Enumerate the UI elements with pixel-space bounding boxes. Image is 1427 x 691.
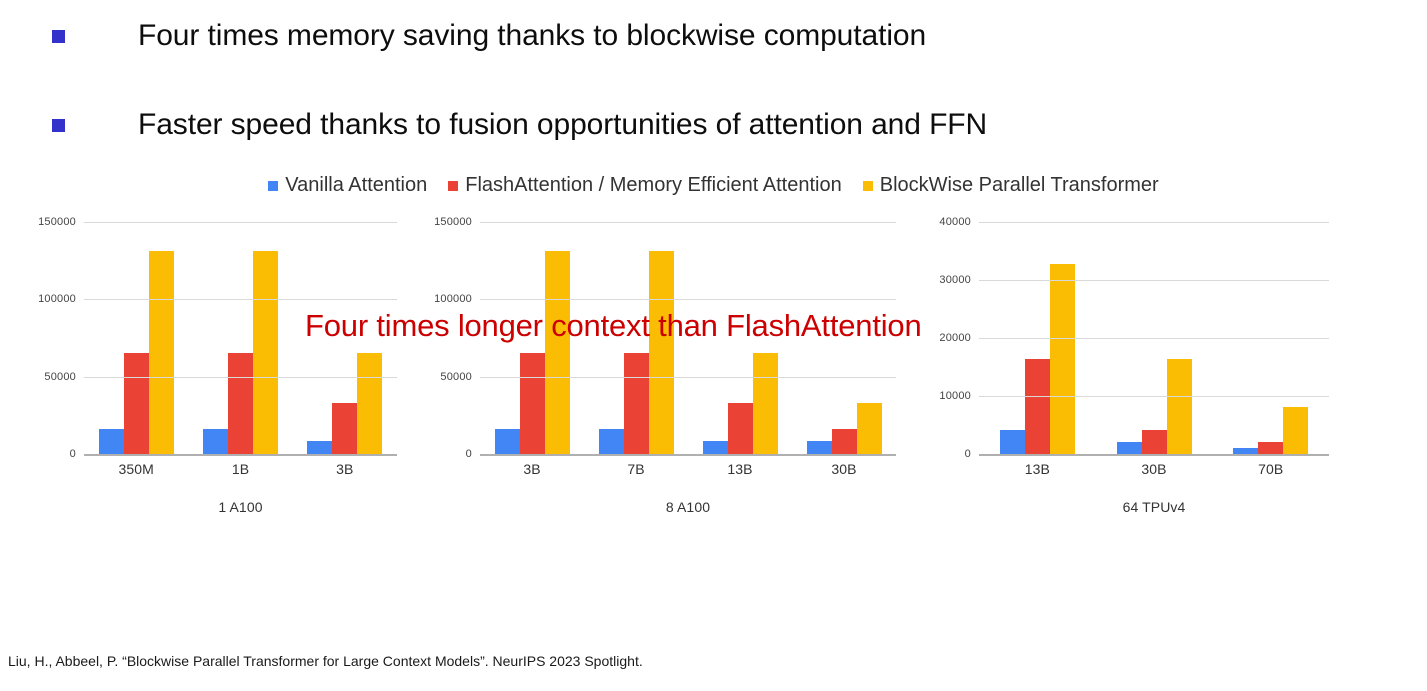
- annotation-text: Four times longer context than FlashAtte…: [305, 308, 922, 344]
- bar: [495, 429, 520, 454]
- x-axis-tick-label: 1B: [188, 454, 292, 480]
- y-axis-tick-label: 150000: [434, 216, 472, 228]
- chart-2-subtitle: 8 A100: [480, 499, 896, 515]
- bar: [99, 429, 124, 454]
- legend-item-blockwise-parallel-transformer-label: BlockWise Parallel Transformer: [880, 174, 1159, 197]
- bullet-item-1: Four times memory saving thanks to block…: [52, 12, 1427, 60]
- bar: [1142, 430, 1167, 454]
- plot: [979, 222, 1329, 454]
- chart-1-a100: 050000100000150000 350M1B3B 1 A100: [22, 222, 397, 515]
- charts-row: 050000100000150000 350M1B3B 1 A100 05000…: [0, 222, 1427, 522]
- y-axis-tick-label: 100000: [38, 293, 76, 305]
- x-axis-tick-label: 13B: [979, 454, 1096, 480]
- legend-swatch-icon: [268, 181, 278, 191]
- y-axis: 010000200003000040000: [917, 222, 979, 454]
- y-axis-tick-label: 20000: [939, 332, 971, 344]
- square-bullet-icon: [52, 30, 65, 43]
- bar: [1167, 359, 1192, 454]
- y-axis-tick-label: 10000: [939, 390, 971, 402]
- bar: [545, 251, 570, 454]
- x-axis-tick-label: 3B: [293, 454, 397, 480]
- x-axis-tick-label: 13B: [688, 454, 792, 480]
- bar: [124, 353, 149, 454]
- chart-8-a100: 050000100000150000 3B7B13B30B 8 A100: [418, 222, 896, 515]
- bullet-item-2-label: Faster speed thanks to fusion opportunit…: [138, 108, 987, 142]
- bullet-item-2: Faster speed thanks to fusion opportunit…: [52, 101, 1427, 149]
- bar: [753, 353, 778, 454]
- x-axis-tick-label: 350M: [84, 454, 188, 480]
- bar: [857, 403, 882, 454]
- x-axis-tick-label: 3B: [480, 454, 584, 480]
- gridline: [979, 280, 1329, 281]
- gridline: [480, 222, 896, 223]
- bullet-item-1-label: Four times memory saving thanks to block…: [138, 19, 926, 53]
- gridline: [979, 222, 1329, 223]
- bar-group: [84, 222, 188, 454]
- bar: [728, 403, 753, 454]
- y-axis-tick-label: 40000: [939, 216, 971, 228]
- gridline: [84, 377, 397, 378]
- bar: [1000, 430, 1025, 454]
- legend-item-flashattention-label: FlashAttention / Memory Efficient Attent…: [465, 174, 841, 197]
- y-axis-tick-label: 30000: [939, 274, 971, 286]
- y-axis-tick-label: 0: [965, 448, 971, 460]
- legend-item-vanilla-attention: Vanilla Attention: [268, 174, 427, 197]
- bar: [1283, 407, 1308, 455]
- y-axis-tick-label: 50000: [44, 371, 76, 383]
- legend-item-vanilla-attention-label: Vanilla Attention: [285, 174, 427, 197]
- legend-swatch-icon: [448, 181, 458, 191]
- bar: [228, 353, 253, 454]
- bar: [1025, 359, 1050, 454]
- bullet-list: Four times memory saving thanks to block…: [0, 0, 1427, 149]
- x-axis-labels: 3B7B13B30B: [480, 454, 896, 480]
- bar: [332, 403, 357, 454]
- square-bullet-icon: [52, 119, 65, 132]
- y-axis-tick-label: 100000: [434, 293, 472, 305]
- y-axis-tick-label: 150000: [38, 216, 76, 228]
- bar: [357, 353, 382, 454]
- x-axis-tick-label: 30B: [1096, 454, 1213, 480]
- x-axis-tick-label: 70B: [1212, 454, 1329, 480]
- chart-legend: Vanilla Attention FlashAttention / Memor…: [0, 174, 1427, 197]
- bar: [1258, 442, 1283, 454]
- bar: [703, 441, 728, 454]
- gridline: [979, 396, 1329, 397]
- y-axis: 050000100000150000: [22, 222, 84, 454]
- bar-group: [188, 222, 292, 454]
- bar: [1050, 264, 1075, 454]
- legend-item-flashattention: FlashAttention / Memory Efficient Attent…: [448, 174, 841, 197]
- bar: [1117, 442, 1142, 454]
- bar: [253, 251, 278, 454]
- gridline: [979, 338, 1329, 339]
- gridline: [84, 299, 397, 300]
- chart-64-tpuv4: 010000200003000040000 13B30B70B 64 TPUv4: [917, 222, 1329, 515]
- x-axis-tick-label: 7B: [584, 454, 688, 480]
- gridline: [84, 222, 397, 223]
- x-axis-labels: 350M1B3B: [84, 454, 397, 480]
- plot-area: 010000200003000040000: [917, 222, 1329, 454]
- citation-footer: Liu, H., Abbeel, P. “Blockwise Parallel …: [8, 653, 643, 669]
- x-axis-tick-label: 30B: [792, 454, 896, 480]
- bar: [807, 441, 832, 454]
- bar: [599, 429, 624, 454]
- bar: [203, 429, 228, 454]
- gridline: [480, 377, 896, 378]
- chart-1-subtitle: 1 A100: [84, 499, 397, 515]
- bar: [832, 429, 857, 454]
- bar: [649, 251, 674, 454]
- gridline: [480, 299, 896, 300]
- legend-item-blockwise-parallel-transformer: BlockWise Parallel Transformer: [863, 174, 1159, 197]
- legend-swatch-icon: [863, 181, 873, 191]
- y-axis-tick-label: 0: [70, 448, 76, 460]
- x-axis-labels: 13B30B70B: [979, 454, 1329, 480]
- bar: [624, 353, 649, 454]
- bar: [520, 353, 545, 454]
- chart-3-subtitle: 64 TPUv4: [979, 499, 1329, 515]
- y-axis-tick-label: 50000: [440, 371, 472, 383]
- bar: [149, 251, 174, 454]
- y-axis-tick-label: 0: [466, 448, 472, 460]
- bar: [307, 441, 332, 454]
